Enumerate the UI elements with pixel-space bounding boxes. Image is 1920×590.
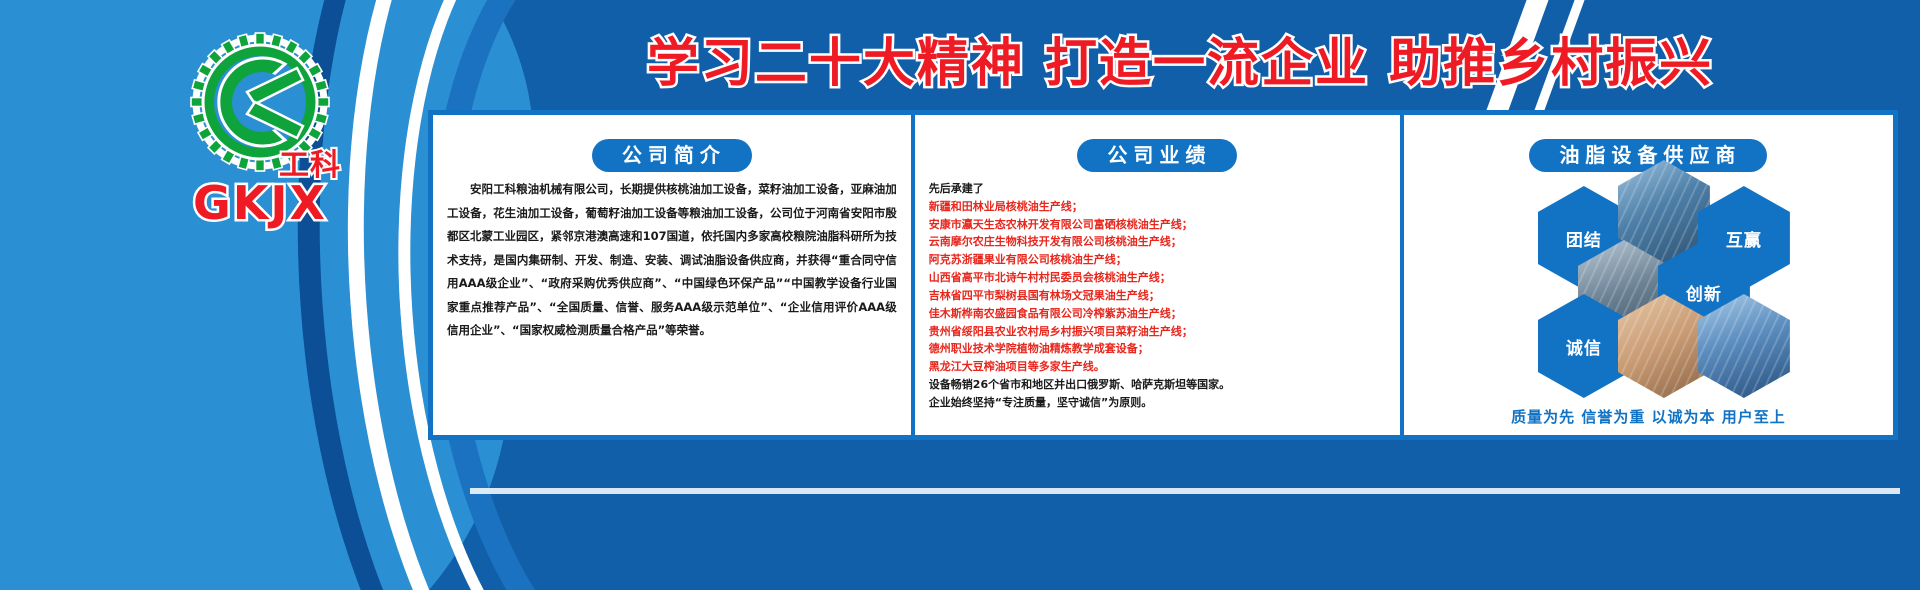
list-item: 山西省高平市北诗午村村民委员会核桃油生产线； [929, 269, 1386, 287]
achievements-footer-line: 设备畅销26个省市和地区并出口俄罗斯、哈萨克斯坦等国家。 [929, 376, 1386, 394]
poster-stage: 工科 GKJX 学习二十大精神 打造一流企业 助推乡村振兴 公司简介 安阳工科粮… [0, 0, 1920, 590]
list-item: 安康市瀛天生态农林开发有限公司富硒核桃油生产线； [929, 216, 1386, 234]
panel-title-oil-equipment-supplier: 油脂设备供应商 [1529, 139, 1767, 172]
content-frame: 公司简介 安阳工科粮油机械有限公司，长期提供核桃油加工设备，菜籽油加工设备，亚麻… [428, 110, 1898, 440]
supplier-slogan: 质量为先 信誉为重 以诚为本 用户至上 [1404, 406, 1893, 427]
company-profile-body: 安阳工科粮油机械有限公司，长期提供核桃油加工设备，菜籽油加工设备，亚麻油加工设备… [447, 178, 897, 343]
achievements-list: 新疆和田林业局核桃油生产线； 安康市瀛天生态农林开发有限公司富硒核桃油生产线； … [929, 198, 1386, 376]
gear-logo-icon: 工科 [185, 30, 335, 180]
achievements-intro: 先后承建了 [929, 180, 1386, 198]
achievements-footer: 设备畅销26个省市和地区并出口俄罗斯、哈萨克斯坦等国家。 企业始终坚持“专注质量… [929, 376, 1386, 412]
hexagon-collage: 团结 互赢 创新 诚信 [1418, 180, 1879, 390]
list-item: 德州职业技术学院植物油精炼教学成套设备； [929, 340, 1386, 358]
panel-title-company-profile: 公司简介 [592, 139, 752, 172]
list-item: 新疆和田林业局核桃油生产线； [929, 198, 1386, 216]
panel-company-achievements: 公司业绩 先后承建了 新疆和田林业局核桃油生产线； 安康市瀛天生态农林开发有限公… [915, 115, 1404, 435]
list-item: 贵州省绥阳县农业农村局乡村振兴项目菜籽油生产线； [929, 323, 1386, 341]
list-item: 黑龙江大豆榨油项目等多家生产线。 [929, 358, 1386, 376]
headline-bar: 学习二十大精神 打造一流企业 助推乡村振兴 [480, 18, 1880, 98]
headline-text: 学习二十大精神 打造一流企业 助推乡村振兴 [647, 21, 1713, 96]
list-item: 阿克苏浙疆果业有限公司核桃油生产线； [929, 251, 1386, 269]
bottom-white-line [470, 488, 1900, 494]
list-item: 吉林省四平市梨树县国有林场文冠果油生产线； [929, 287, 1386, 305]
logo-en-name: GKJX [120, 176, 400, 230]
list-item: 云南摩尔农庄生物科技开发有限公司核桃油生产线； [929, 233, 1386, 251]
achievements-footer-line: 企业始终坚持“专注质量，坚守诚信”为原则。 [929, 394, 1386, 412]
panel-company-profile: 公司简介 安阳工科粮油机械有限公司，长期提供核桃油加工设备，菜籽油加工设备，亚麻… [433, 115, 915, 435]
company-logo: 工科 GKJX [120, 30, 400, 230]
logo-cn-name: 工科 [279, 140, 341, 184]
panel-title-company-achievements: 公司业绩 [1077, 139, 1237, 172]
list-item: 佳木斯桦南农盛园食品有限公司冷榨紫苏油生产线； [929, 305, 1386, 323]
panel-oil-equipment-supplier: 油脂设备供应商 团结 互赢 创新 诚信 质量为先 信誉为重 以诚为本 用户至上 [1404, 115, 1893, 435]
